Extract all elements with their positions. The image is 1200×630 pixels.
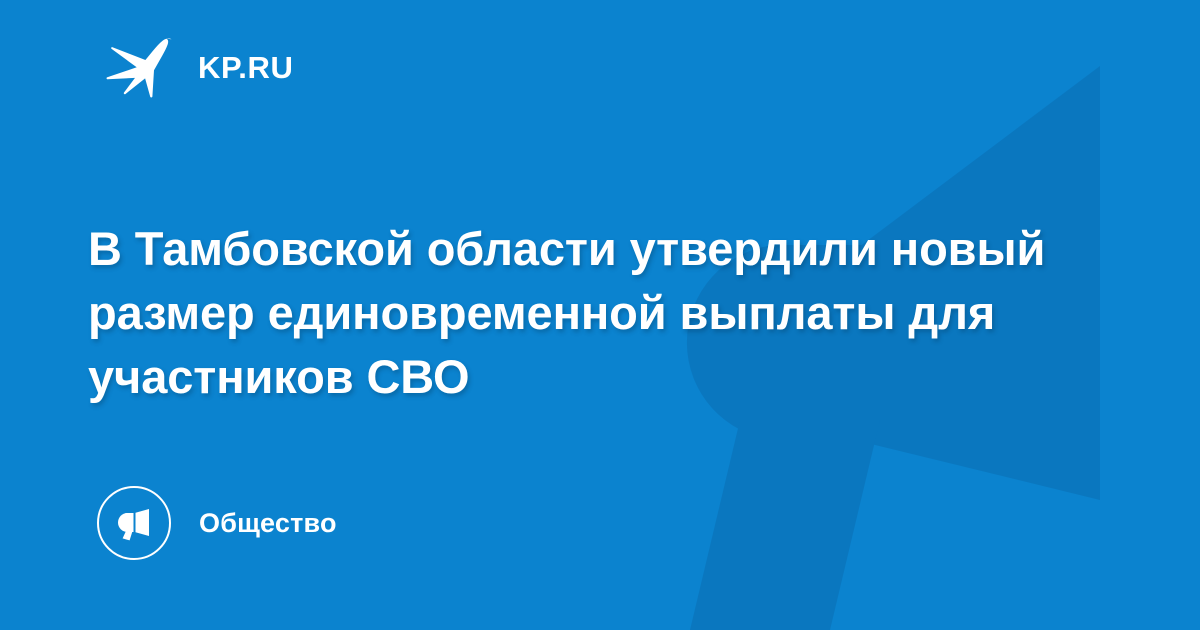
swallow-bird-icon	[104, 36, 178, 98]
category-chip[interactable]: Общество	[97, 485, 337, 561]
category-label: Общество	[199, 510, 337, 537]
article-share-card: KP.RU В Тамбовской области утвердили нов…	[0, 0, 1200, 630]
category-badge	[97, 486, 171, 560]
megaphone-icon	[114, 503, 154, 543]
headline: В Тамбовской области утвердили новый раз…	[88, 217, 1068, 409]
brand-row[interactable]: KP.RU	[104, 36, 293, 98]
brand-name: KP.RU	[198, 52, 293, 83]
